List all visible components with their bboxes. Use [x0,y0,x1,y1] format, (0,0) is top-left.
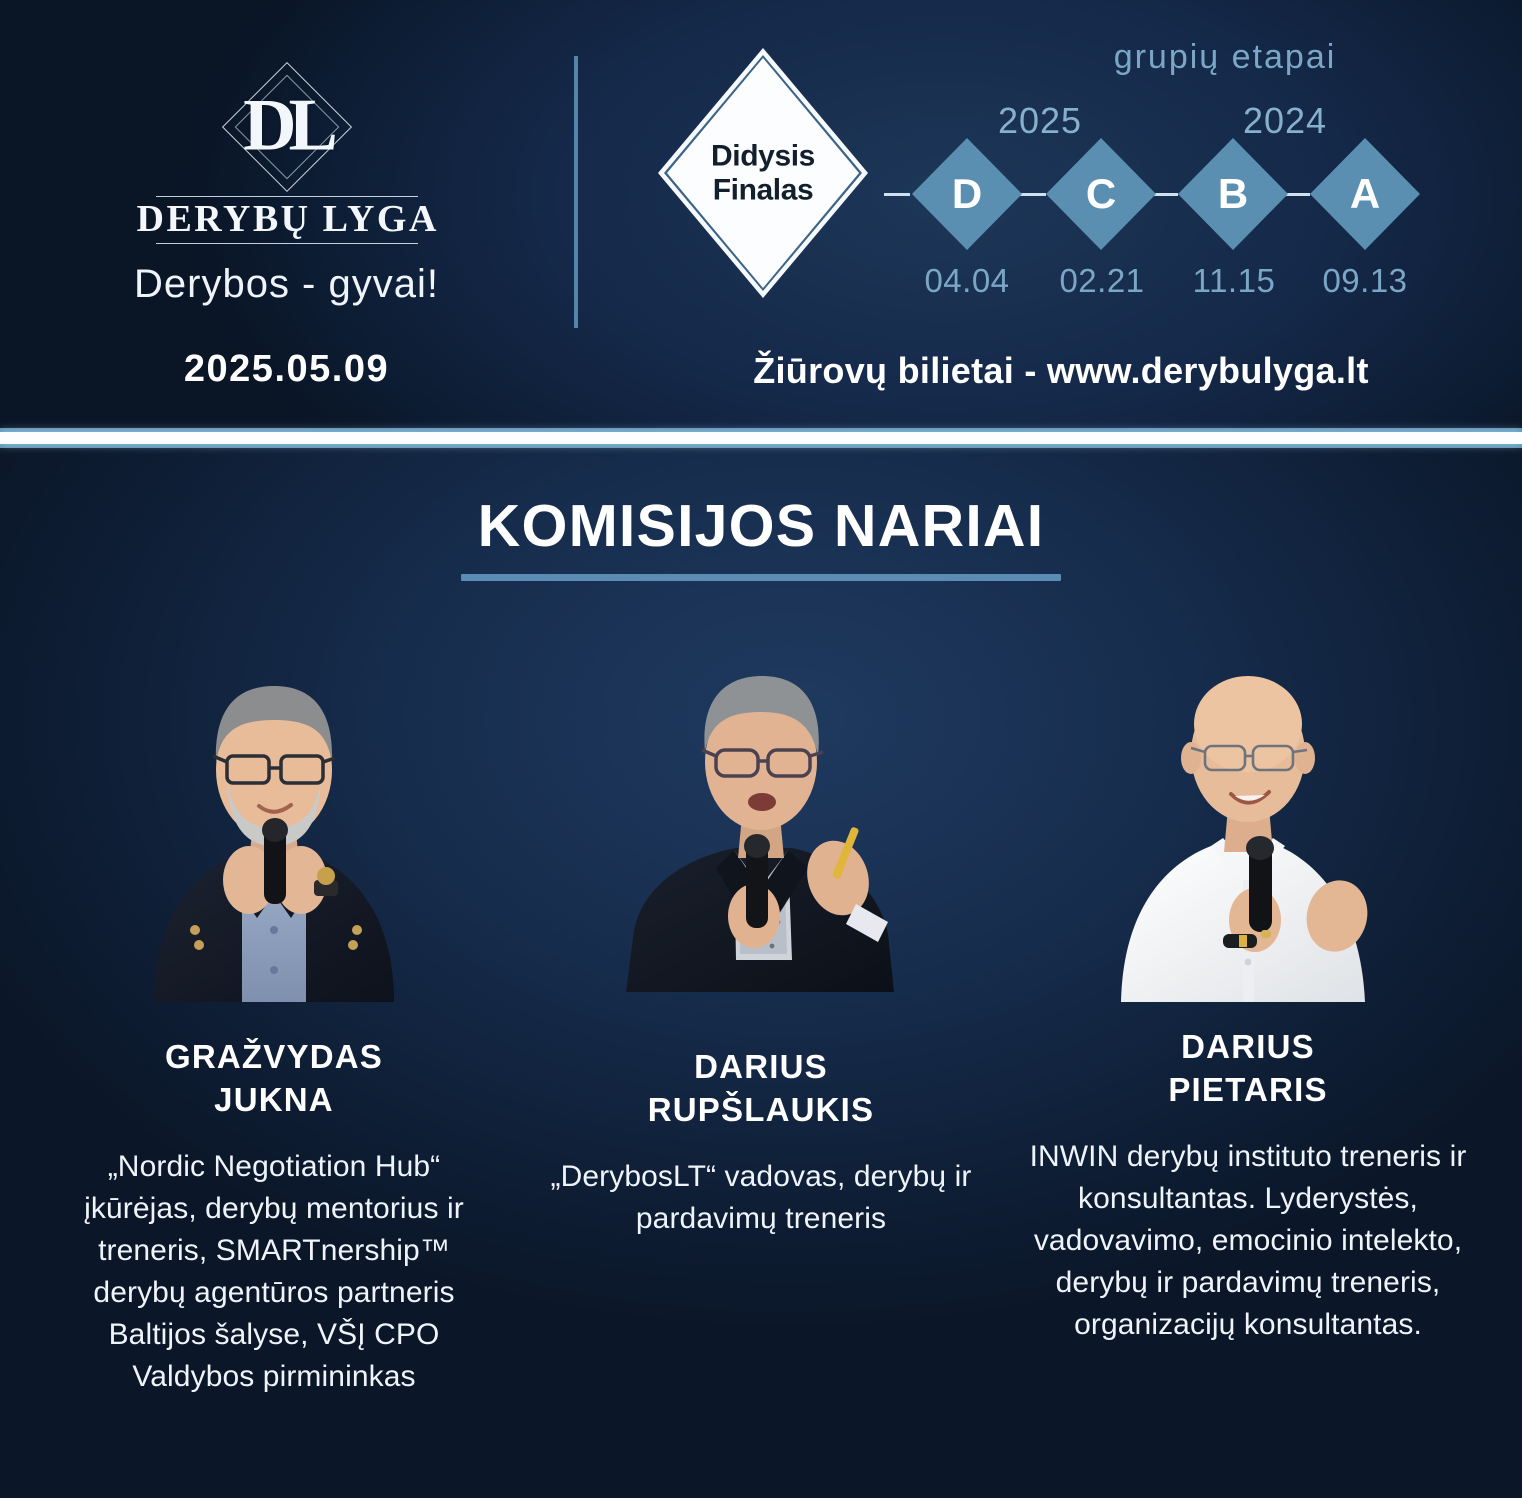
jury-member-last-name: JUKNA [165,1079,383,1122]
avatar [596,630,926,1002]
logo-rule-top [156,196,418,197]
jury-member-last-name: PIETARIS [1168,1069,1327,1112]
logo-monogram: DL [243,89,330,163]
bracket-stages-label: grupių etapai [1015,38,1435,77]
jury-member-first-name: DARIUS [648,1046,875,1089]
header-left-brand: DL DERYBŲ LYGA Derybos - gyvai! 2025.05.… [0,0,573,428]
final-diamond-label: Didysis Finalas [658,139,868,206]
jury-member-bio: „DerybosLT“ vadovas, derybų ir pardavimų… [535,1156,987,1240]
brand-name: DERYBŲ LYGA [137,199,437,239]
stage-letter-c: C [1046,170,1156,218]
section-header: KOMISIJOS NARIAI [0,492,1522,581]
jury-member-last-name: RUPŠLAUKIS [648,1089,875,1132]
avatar [1083,630,1413,1002]
brand-tagline: Derybos - gyvai! [0,262,573,307]
bracket-stage-b: B [1178,138,1288,250]
jury-member-card: DARIUS RUPŠLAUKIS „DerybosLT“ vadovas, d… [518,630,1005,1240]
logo-rule-bottom [156,243,418,244]
section-divider-inner [0,432,1522,444]
title-underline [461,574,1061,581]
brand-logo: DL DERYBŲ LYGA [137,62,437,244]
bracket-connector-1 [1020,193,1046,196]
stage-letter-a: A [1310,170,1420,218]
jury-member-name: DARIUS PIETARIS [1168,1026,1327,1112]
stage-letter-b: B [1178,170,1288,218]
header-band: DL DERYBŲ LYGA Derybos - gyvai! 2025.05.… [0,0,1522,428]
stage-date-a: 09.13 [1300,262,1430,300]
bracket-year-2024: 2024 [1215,100,1355,142]
tournament-bracket: grupių etapai 2025 2024 Didysis Finalas … [600,0,1522,428]
bracket-stage-c: C [1046,138,1156,250]
stage-date-b: 11.15 [1169,262,1299,300]
jury-member-name: GRAŽVYDAS JUKNA [165,1036,383,1122]
poster-root: DL DERYBŲ LYGA Derybos - gyvai! 2025.05.… [0,0,1522,1498]
bracket-final-diamond: Didysis Finalas [658,48,868,298]
header-vertical-divider [574,56,578,328]
final-label-line1: Didysis [658,139,868,173]
logo-diamond-icon: DL [222,62,352,192]
bracket-stage-d: D [912,138,1022,250]
stage-date-d: 04.04 [902,262,1032,300]
avatar [109,630,439,1002]
jury-member-first-name: GRAŽVYDAS [165,1036,383,1079]
jury-member-first-name: DARIUS [1168,1026,1327,1069]
jury-member-bio: INWIN derybų instituto treneris ir konsu… [1022,1136,1474,1346]
page-title: KOMISIJOS NARIAI [0,492,1522,560]
final-label-line2: Finalas [658,173,868,207]
bracket-stage-a: A [1310,138,1420,250]
bracket-connector-0 [884,193,910,196]
bracket-year-2025: 2025 [970,100,1110,142]
event-date: 2025.05.09 [0,348,573,391]
jury-member-name: DARIUS RUPŠLAUKIS [648,1046,875,1132]
stage-letter-d: D [912,170,1022,218]
jury-members-list: GRAŽVYDAS JUKNA „Nordic Negotiation Hub“… [0,630,1522,1398]
tickets-line[interactable]: Žiūrovų bilietai - www.derybulyga.lt [600,350,1522,392]
jury-member-bio: „Nordic Negotiation Hub“ įkūrėjas, deryb… [48,1146,500,1398]
jury-member-card: GRAŽVYDAS JUKNA „Nordic Negotiation Hub“… [31,630,518,1398]
jury-member-card: DARIUS PIETARIS INWIN derybų instituto t… [1005,630,1492,1346]
stage-date-c: 02.21 [1037,262,1167,300]
